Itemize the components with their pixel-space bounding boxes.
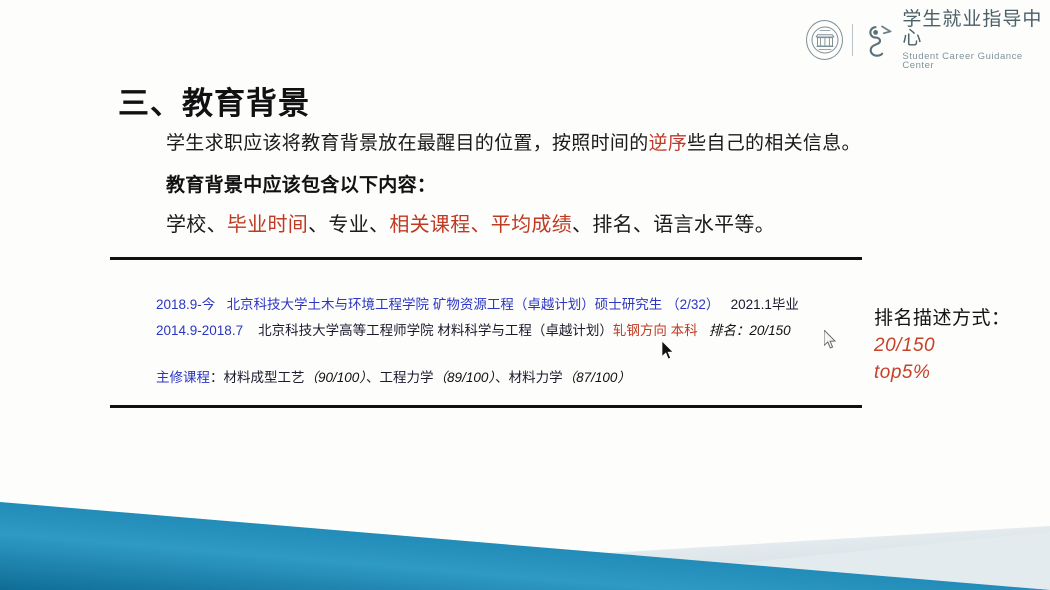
intro-line-3: 学校、毕业时间、专业、相关课程、平均成绩、排名、语言水平等。 — [166, 208, 926, 237]
courses-label: 主修课程 — [156, 370, 210, 385]
intro-line-3-part-1: 学校、 — [166, 214, 227, 236]
course-score-3: （87/100） — [563, 370, 631, 385]
brand-divider — [852, 24, 853, 56]
entry-body: 北京科技大学土木与环境工程学院 矿物资源工程（卓越计划）硕士研究生 （2/32） — [227, 297, 720, 312]
entry-rank: 排名：20/150 — [709, 323, 791, 338]
intro-line-1-part-a: 学生求职应该将教育背景放在最醒目的位置，按照时间的 — [166, 133, 649, 154]
intro-line-3-part-2: 、专业、 — [308, 214, 389, 236]
course-score-2: （89/100） — [434, 370, 496, 385]
course-sep-2: 、 — [495, 370, 509, 385]
intro-line-1-highlight: 逆序 — [649, 133, 688, 154]
brand-text: 学生就业指导中心 Student Career Guidance Center — [902, 10, 1050, 71]
intro-block: 学生求职应该将教育背景放在最醒目的位置，按照时间的逆序些自己的相关信息。 教育背… — [166, 130, 926, 237]
slide-canvas: 学生就业指导中心 Student Career Guidance Center … — [0, 0, 1050, 590]
divider-top — [110, 257, 862, 260]
courses-sep: ： — [210, 370, 224, 385]
intro-line-2: 教育背景中应该包含以下内容： — [166, 170, 926, 197]
note-title: 排名描述方式： — [874, 303, 1011, 330]
brand-name-cn: 学生就业指导中心 — [902, 10, 1050, 48]
intro-line-3-highlight-2: 相关课程、平均成绩 — [389, 214, 572, 236]
divider-bottom — [110, 405, 862, 408]
education-entry-row: 2018.9-今 北京科技大学土木与环境工程学院 矿物资源工程（卓越计划）硕士研… — [156, 295, 876, 316]
intro-line-3-part-3: 、排名、语言水平等。 — [572, 214, 775, 236]
entry-period: 2018.9-今 — [156, 297, 215, 312]
intro-line-1-part-b: 些自己的相关信息。 — [687, 133, 861, 154]
page-title: 三、教育背景 — [118, 78, 310, 123]
courses-row: 主修课程：材料成型工艺（90/100）、工程力学（89/100）、材料力学（87… — [156, 366, 876, 386]
mouse-pointer-light — [824, 330, 838, 350]
intro-line-3-highlight-1: 毕业时间 — [227, 214, 308, 236]
education-entry-row: 2014.9-2018.7 北京科技大学高等工程师学院 材料科学与工程（卓越计划… — [156, 321, 876, 342]
entry-body: 北京科技大学高等工程师学院 材料科学与工程（卓越计划） — [258, 323, 613, 338]
decorative-banner — [0, 470, 1050, 590]
career-center-figure-icon — [862, 20, 893, 60]
course-name-3: 材料力学 — [509, 370, 563, 385]
note-value-2: top5% — [874, 362, 1011, 384]
entry-period: 2014.9-2018.7 — [156, 323, 243, 338]
intro-line-1: 学生求职应该将教育背景放在最醒目的位置，按照时间的逆序些自己的相关信息。 — [166, 130, 926, 159]
university-seal-icon — [806, 20, 843, 60]
entry-tail: 2021.1毕业 — [731, 297, 799, 312]
mouse-pointer-dark — [662, 341, 676, 361]
course-sep-1: 、 — [366, 370, 380, 385]
course-score-1: （90/100） — [305, 370, 367, 385]
entry-highlight: 轧钢方向 本科 — [613, 323, 698, 338]
note-value-1: 20/150 — [874, 335, 1011, 357]
brand-name-en: Student Career Guidance Center — [902, 52, 1050, 71]
education-entries: 2018.9-今 北京科技大学土木与环境工程学院 矿物资源工程（卓越计划）硕士研… — [156, 295, 876, 386]
brand-header: 学生就业指导中心 Student Career Guidance Center — [806, 18, 1050, 62]
course-name-2: 工程力学 — [380, 370, 434, 385]
course-name-1: 材料成型工艺 — [224, 370, 305, 385]
rank-description-note: 排名描述方式： 20/150 top5% — [874, 303, 1011, 384]
